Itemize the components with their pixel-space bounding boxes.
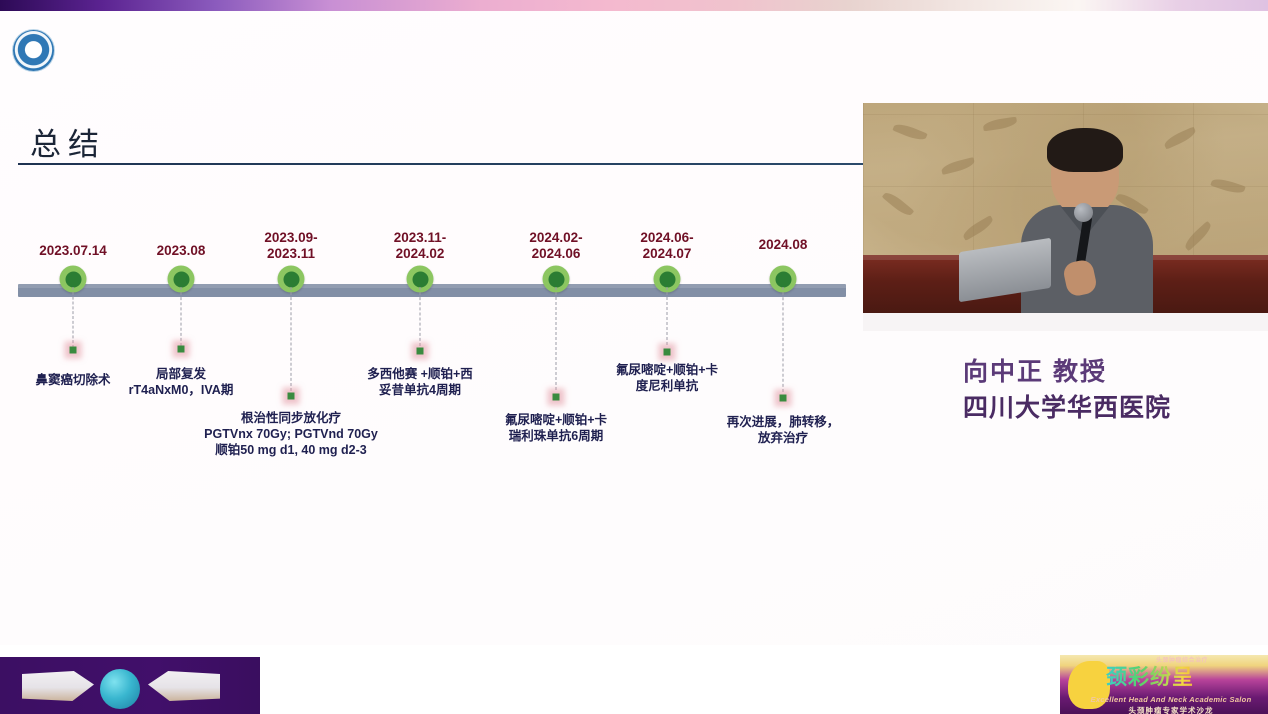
timeline-connector bbox=[556, 287, 557, 390]
timeline-marker bbox=[70, 347, 77, 354]
speaker-name: 向中正 教授 bbox=[963, 352, 1107, 388]
timeline-connector bbox=[420, 287, 421, 346]
microphone-head-icon bbox=[1074, 203, 1093, 222]
timeline-caption: 再次进展，肺转移， 放弃治疗 bbox=[727, 414, 840, 446]
footer-left-decoration bbox=[0, 657, 260, 714]
timeline-caption: 氟尿嘧啶+顺铂+卡 度尼利单抗 bbox=[616, 362, 718, 394]
timeline-marker bbox=[780, 395, 787, 402]
brand-tagline-cn: 头颈肿瘤专家学术沙龙 bbox=[1080, 705, 1262, 714]
speaker-hair bbox=[1047, 128, 1123, 172]
brand-tagline-en: Excellent Head And Neck Academic Salon bbox=[1080, 695, 1262, 704]
event-brand-logo: 头颈肿瘤综合治疗 颈彩纷呈 Excellent Head And Neck Ac… bbox=[1060, 655, 1268, 714]
handshake-left-arm-icon bbox=[22, 671, 94, 701]
timeline-caption: 多西他赛 +顺铂+西 妥昔单抗4周期 bbox=[367, 366, 473, 398]
page-title: 总结 bbox=[30, 119, 106, 164]
timeline-node-core bbox=[65, 271, 81, 287]
speaker-figure bbox=[1021, 133, 1153, 313]
timeline-connector bbox=[667, 287, 668, 345]
timeline-date: 2023.07.14 bbox=[39, 243, 107, 259]
top-gradient-bar bbox=[0, 0, 1268, 11]
timeline-node-core bbox=[548, 271, 564, 287]
brand-title: 颈彩纷呈 bbox=[1106, 663, 1264, 693]
timeline-connector bbox=[291, 287, 292, 391]
title-divider bbox=[18, 163, 863, 165]
timeline-caption: 根治性同步放化疗 PGTVnx 70Gy; PGTVnd 70Gy 顺铂50 m… bbox=[204, 410, 378, 458]
timeline-node-core bbox=[775, 271, 791, 287]
timeline-node-core bbox=[659, 271, 675, 287]
timeline-marker bbox=[553, 394, 560, 401]
timeline-node-core bbox=[412, 271, 428, 287]
timeline-connector bbox=[783, 287, 784, 392]
timeline-date: 2023.08 bbox=[157, 243, 206, 259]
timeline-bar bbox=[18, 284, 846, 297]
timeline-caption: 局部复发 rT4aNxM0，IVA期 bbox=[129, 366, 234, 398]
presentation-stage: 总结 2023.07.14鼻窦癌切除术2023.08局部复发 rT4aNxM0，… bbox=[0, 0, 1268, 714]
timeline-marker bbox=[664, 349, 671, 356]
timeline-connector bbox=[181, 287, 182, 346]
timeline-node-core bbox=[173, 271, 189, 287]
footer-bar: 头颈肿瘤综合治疗 颈彩纷呈 Excellent Head And Neck Ac… bbox=[0, 645, 1268, 714]
handshake-right-arm-icon bbox=[148, 671, 220, 701]
timeline-date: 2024.02- 2024.06 bbox=[529, 230, 582, 262]
video-bottom-strip bbox=[863, 313, 1268, 331]
timeline-connector bbox=[73, 287, 74, 348]
timeline-date: 2024.06- 2024.07 bbox=[640, 230, 693, 262]
timeline-node-core bbox=[283, 271, 299, 287]
speaker-video-panel[interactable] bbox=[863, 103, 1268, 331]
timeline-marker bbox=[417, 348, 424, 355]
slide-canvas: 总结 2023.07.14鼻窦癌切除术2023.08局部复发 rT4aNxM0，… bbox=[0, 11, 1268, 645]
globe-icon bbox=[100, 669, 140, 709]
timeline-marker bbox=[178, 346, 185, 353]
timeline-caption: 氟尿嘧啶+顺铂+卡 瑞利珠单抗6周期 bbox=[505, 412, 607, 444]
timeline-date: 2023.09- 2023.11 bbox=[264, 230, 317, 262]
timeline-marker bbox=[288, 393, 295, 400]
timeline-date: 2024.08 bbox=[759, 237, 808, 253]
timeline-date: 2023.11- 2024.02 bbox=[394, 230, 447, 262]
hospital-emblem-icon bbox=[13, 30, 54, 71]
timeline-caption: 鼻窦癌切除术 bbox=[35, 372, 110, 388]
speaker-organization: 四川大学华西医院 bbox=[963, 388, 1171, 424]
